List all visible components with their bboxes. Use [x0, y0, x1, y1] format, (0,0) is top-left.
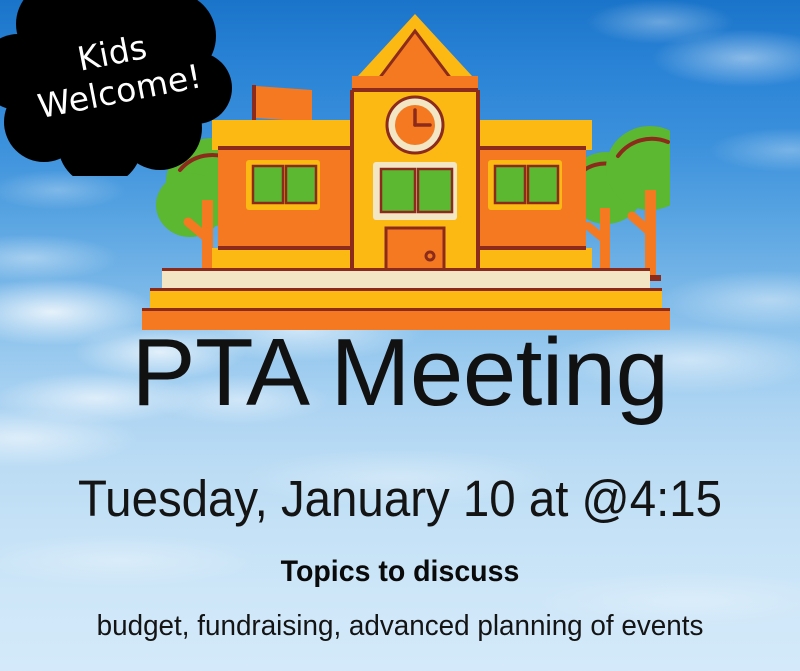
page-title: PTA Meeting — [0, 325, 800, 421]
topics-heading: Topics to discuss — [20, 557, 780, 587]
meeting-date-time: Tuesday, January 10 at @4:15 — [28, 473, 772, 524]
clock-tower — [350, 14, 480, 275]
window-right — [488, 160, 562, 210]
kids-welcome-badge[interactable] — [0, 0, 232, 176]
front-door — [386, 228, 444, 275]
topics-list: budget, fundraising, advanced planning o… — [16, 612, 784, 641]
window-left — [246, 160, 320, 210]
cloud-burst-shape — [0, 0, 232, 176]
clock-face — [387, 97, 443, 153]
pta-meeting-poster: Kids Welcome! PTA Meeting Tuesday, Janua… — [0, 0, 800, 671]
window-tower — [373, 162, 457, 220]
